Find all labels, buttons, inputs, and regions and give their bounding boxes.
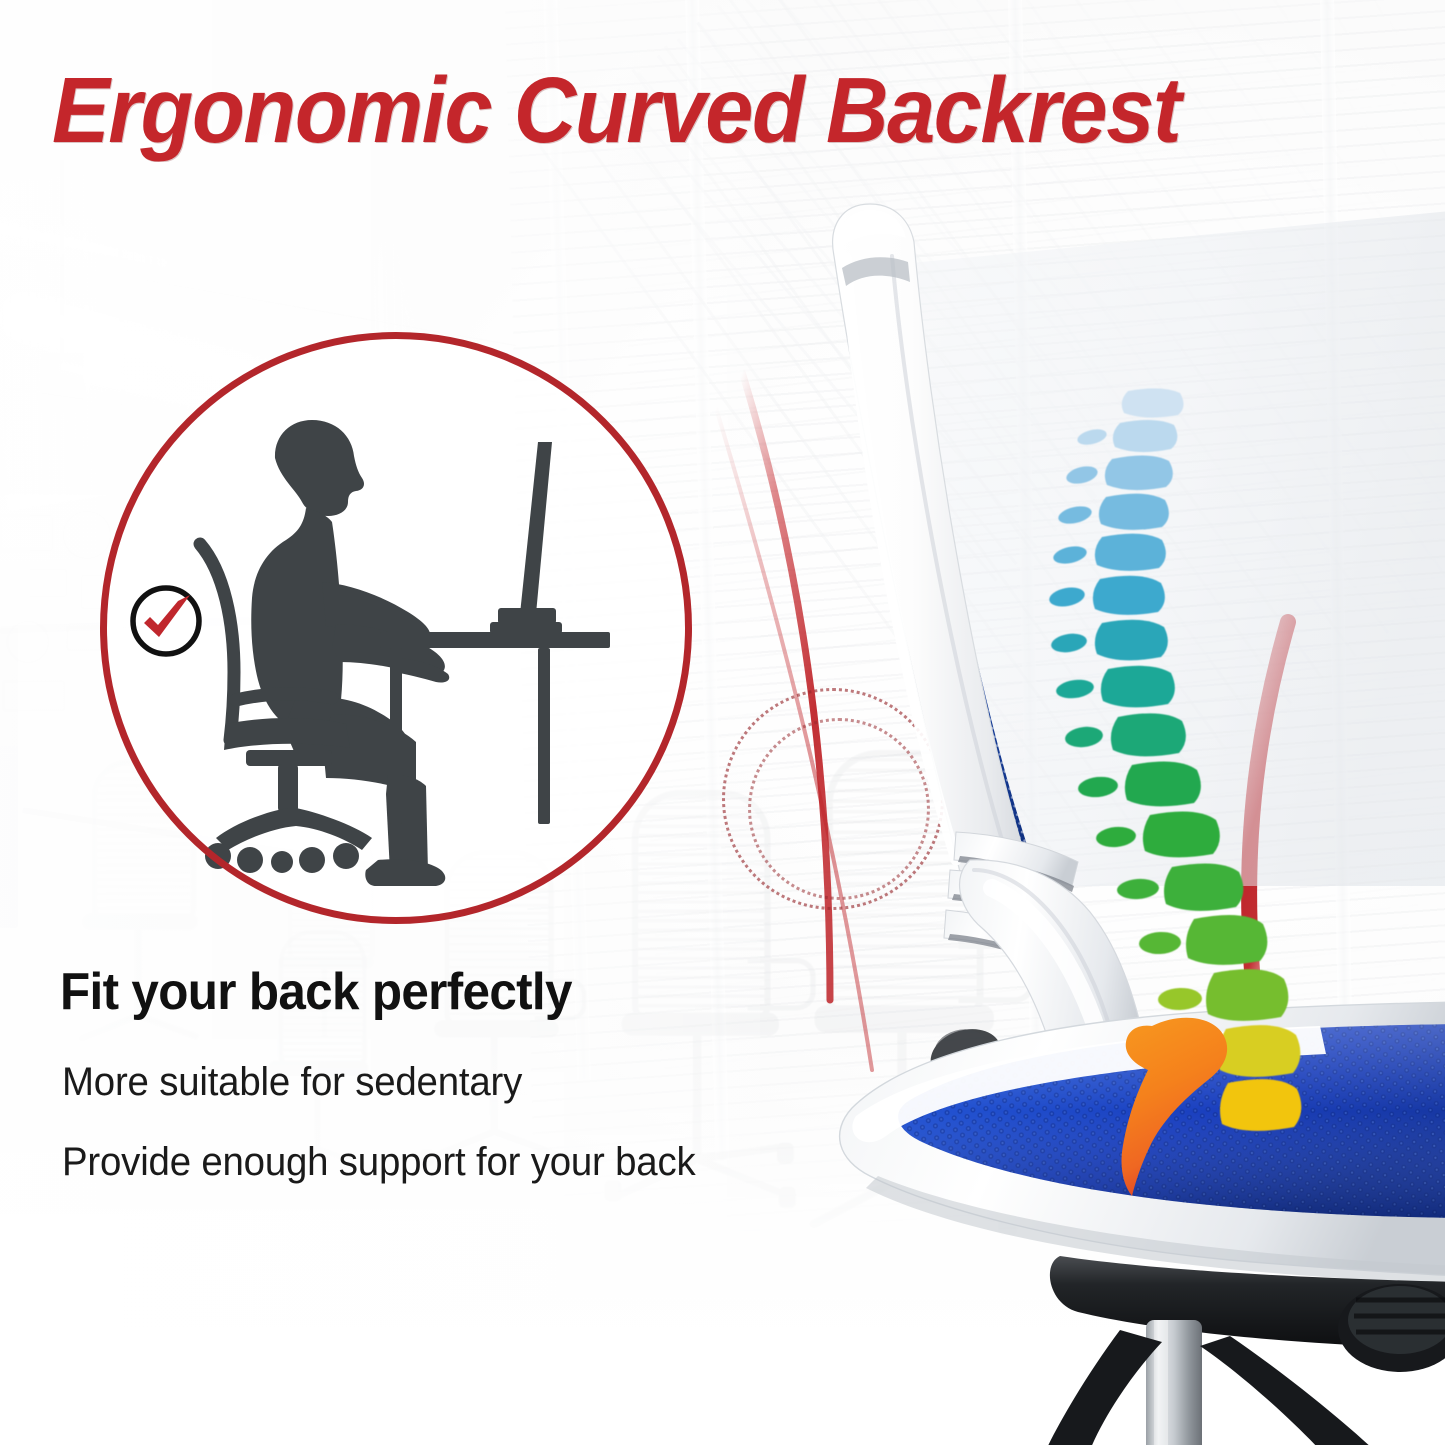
base-spoke [1200, 1336, 1374, 1445]
check-icon [144, 595, 190, 637]
approved-check-badge [128, 583, 204, 659]
base-spoke [1046, 1330, 1162, 1445]
feature-bullet-1: More suitable for sedentary [62, 1060, 522, 1105]
chair-mechanism [1046, 1256, 1445, 1445]
vertebra-group-thoracic [1048, 576, 1220, 858]
vertebra-group-cervical [1052, 388, 1184, 570]
banner-title: Ergonomic Curved Backrest [52, 62, 1215, 160]
feature-headline: Fit your back perfectly [60, 962, 572, 1022]
product-feature-banner: Ergonomic Curved Backrest [0, 0, 1445, 1445]
sacrum-coccyx [1080, 1010, 1320, 1210]
feature-bullet-2: Provide enough support for your back [62, 1140, 695, 1185]
